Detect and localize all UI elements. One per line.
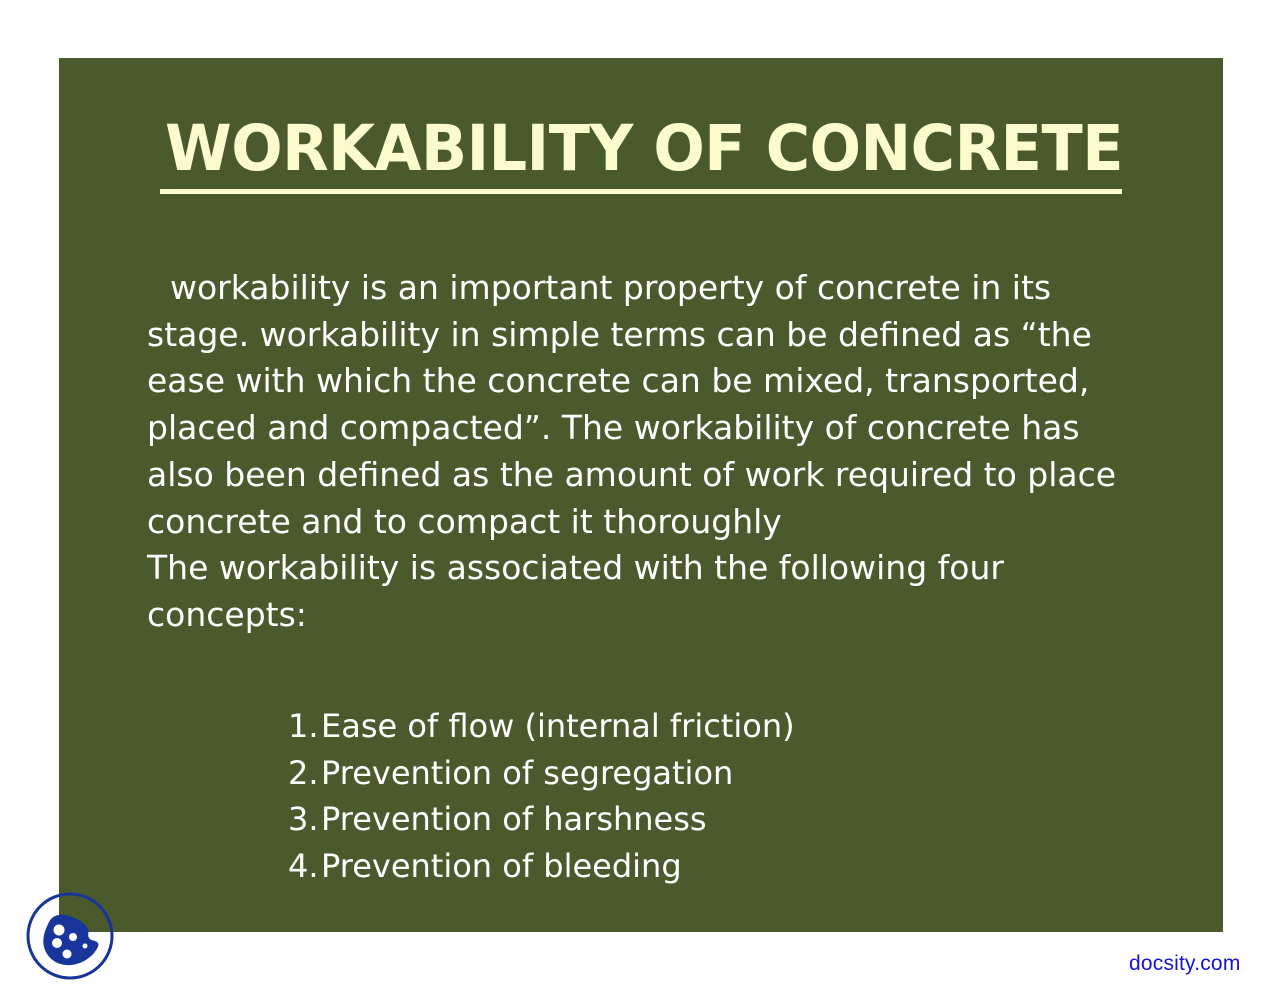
page-title: WORKABILITY OF CONCRETE — [165, 114, 1089, 184]
list-item-label: Prevention of segregation — [321, 754, 733, 792]
title-underline — [160, 189, 1122, 194]
list-item-label: Prevention of bleeding — [321, 847, 682, 885]
body-paragraph: workability is an important property of … — [147, 265, 1217, 639]
body-line-5: also been defined as the amount of work … — [147, 452, 1217, 499]
concept-list: 1.Ease of flow (internal friction) 2.Pre… — [288, 703, 795, 889]
body-line-7: The workability is associated with the f… — [147, 545, 1217, 592]
body-line-8: concepts: — [147, 592, 1217, 639]
docsity-logo-icon — [21, 886, 119, 984]
list-item-number: 4. — [288, 843, 321, 890]
list-item: 4.Prevention of bleeding — [288, 843, 795, 890]
list-item-label: Prevention of harshness — [321, 800, 707, 838]
body-line-2: stage. workability in simple terms can b… — [147, 312, 1217, 359]
list-item: 2.Prevention of segregation — [288, 750, 795, 797]
slide-panel: WORKABILITY OF CONCRETE workability is a… — [59, 58, 1223, 932]
list-item: 3.Prevention of harshness — [288, 796, 795, 843]
body-line-1: workability is an important property of … — [147, 265, 1217, 312]
list-item-number: 2. — [288, 750, 321, 797]
body-line-3: ease with which the concrete can be mixe… — [147, 358, 1217, 405]
list-item-number: 3. — [288, 796, 321, 843]
body-line-6: concrete and to compact it thoroughly — [147, 499, 1217, 546]
list-item: 1.Ease of flow (internal friction) — [288, 703, 795, 750]
body-line-4: placed and compacted”. The workability o… — [147, 405, 1217, 452]
list-item-label: Ease of flow (internal friction) — [321, 707, 795, 745]
docsity-watermark: docsity.com — [1129, 952, 1241, 976]
list-item-number: 1. — [288, 703, 321, 750]
